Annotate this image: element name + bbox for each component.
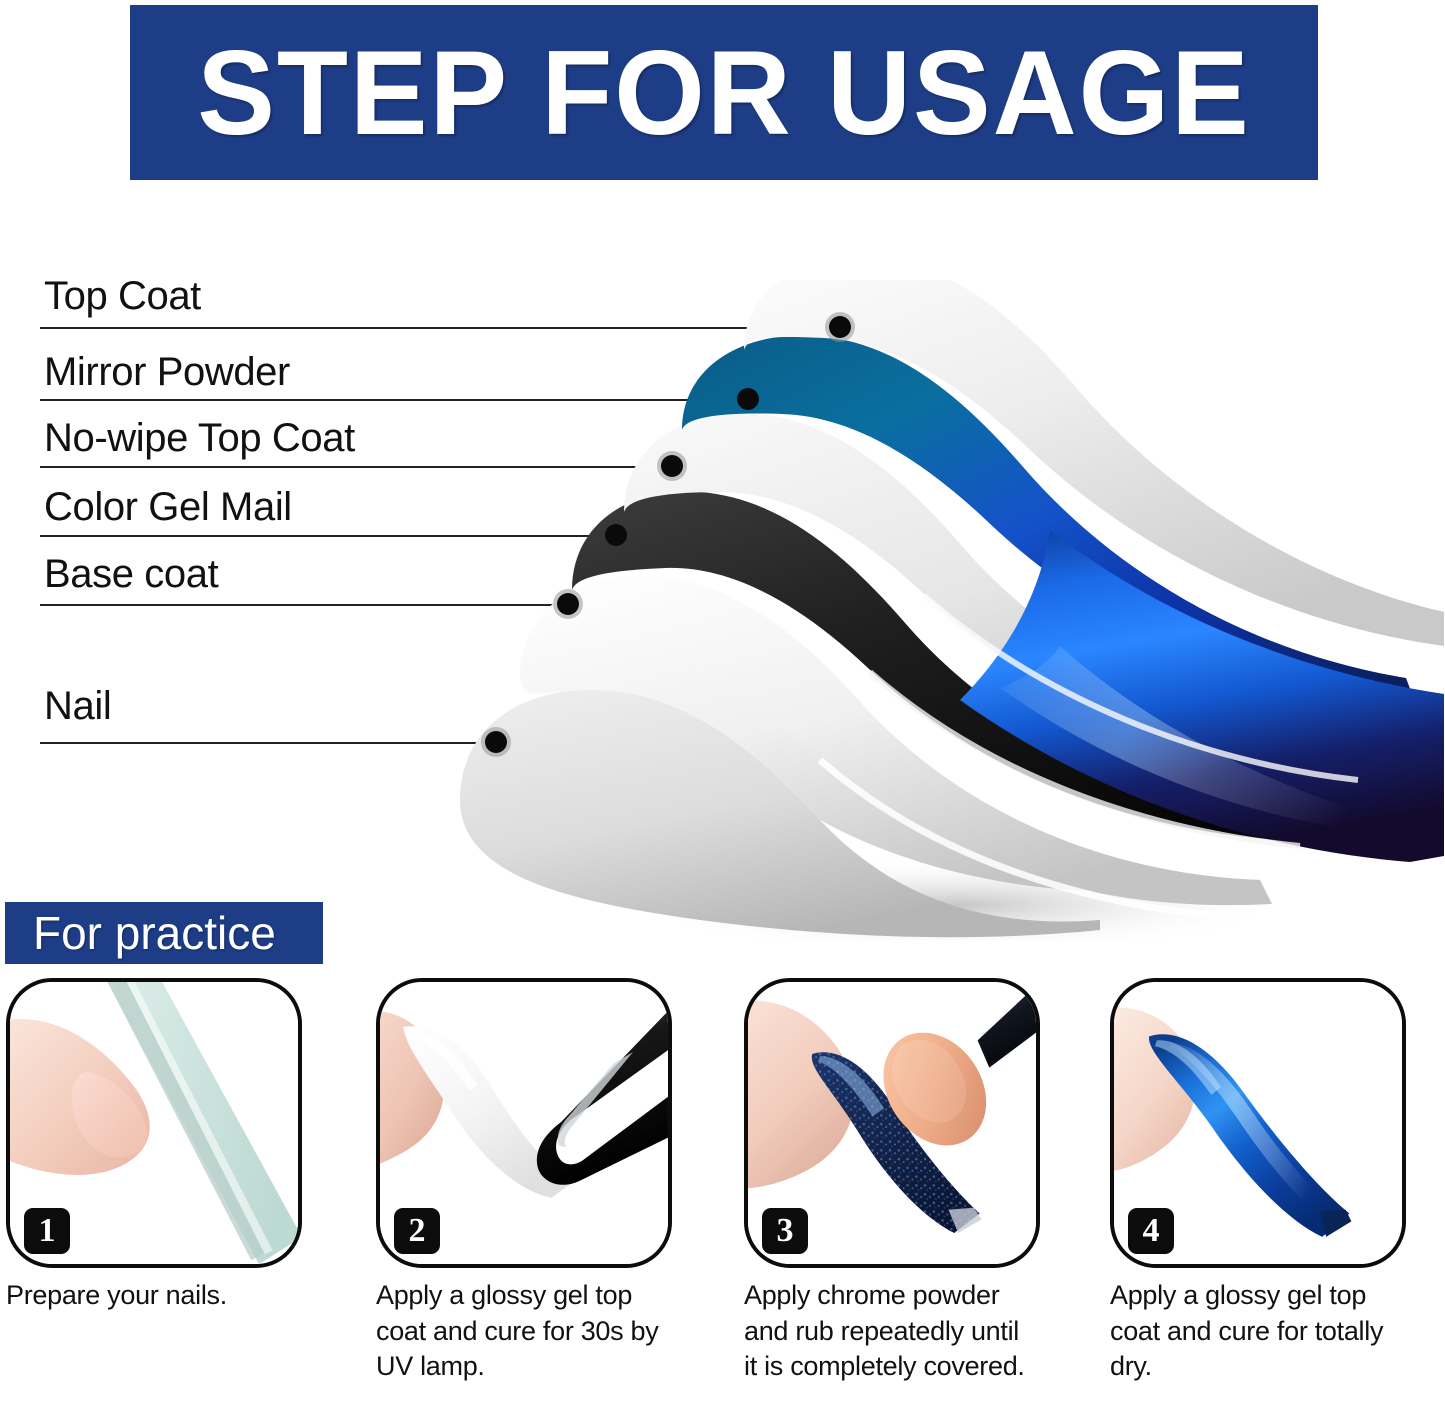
step-caption-1: Prepare your nails. xyxy=(6,1278,296,1314)
step-item-1: 1 Prepare your nails. xyxy=(6,978,306,1314)
step-badge-2: 2 xyxy=(394,1208,440,1254)
step-photo-4: 4 xyxy=(1110,978,1406,1268)
leader-dot-base-coat xyxy=(557,593,579,615)
step-caption-4: Apply a glossy gel top coat and cure for… xyxy=(1110,1278,1400,1385)
step-photo-3: 3 xyxy=(744,978,1040,1268)
step-item-2: 2 Apply a glossy gel top coat and cure f… xyxy=(376,978,676,1385)
step-photo-1: 1 xyxy=(6,978,302,1268)
layer-label-top-coat: Top Coat xyxy=(44,276,201,316)
step-badge-3: 3 xyxy=(762,1208,808,1254)
layer-label-base-coat: Base coat xyxy=(44,554,218,594)
leader-dot-mirror-powder xyxy=(737,388,759,410)
layer-label-color-gel-mail: Color Gel Mail xyxy=(44,487,292,527)
step-photo-2: 2 xyxy=(376,978,672,1268)
nail-layer-diagram xyxy=(400,280,1445,940)
leader-dot-top-coat xyxy=(829,316,851,338)
practice-steps-row: 1 Prepare your nails. xyxy=(0,978,1445,1414)
step-item-3: 3 Apply chrome powder and rub repeatedly… xyxy=(744,978,1044,1385)
practice-banner: For practice xyxy=(5,902,323,964)
layer-label-no-wipe-top-coat: No-wipe Top Coat xyxy=(44,418,355,458)
leader-dot-nail xyxy=(485,731,507,753)
step-caption-2: Apply a glossy gel top coat and cure for… xyxy=(376,1278,666,1385)
step-badge-1: 1 xyxy=(24,1208,70,1254)
header-banner: STEP FOR USAGE xyxy=(130,5,1318,180)
step-badge-4: 4 xyxy=(1128,1208,1174,1254)
step-item-4: 4 Apply a glossy gel top coat and cure f… xyxy=(1110,978,1410,1385)
leader-dot-no-wipe-top-coat xyxy=(661,455,683,477)
layer-label-nail: Nail xyxy=(44,686,111,726)
layer-label-mirror-powder: Mirror Powder xyxy=(44,352,290,392)
step-caption-3: Apply chrome powder and rub repeatedly u… xyxy=(744,1278,1034,1385)
page-title: STEP FOR USAGE xyxy=(197,33,1250,153)
leader-dot-color-gel-mail xyxy=(605,524,627,546)
practice-title: For practice xyxy=(33,910,276,956)
